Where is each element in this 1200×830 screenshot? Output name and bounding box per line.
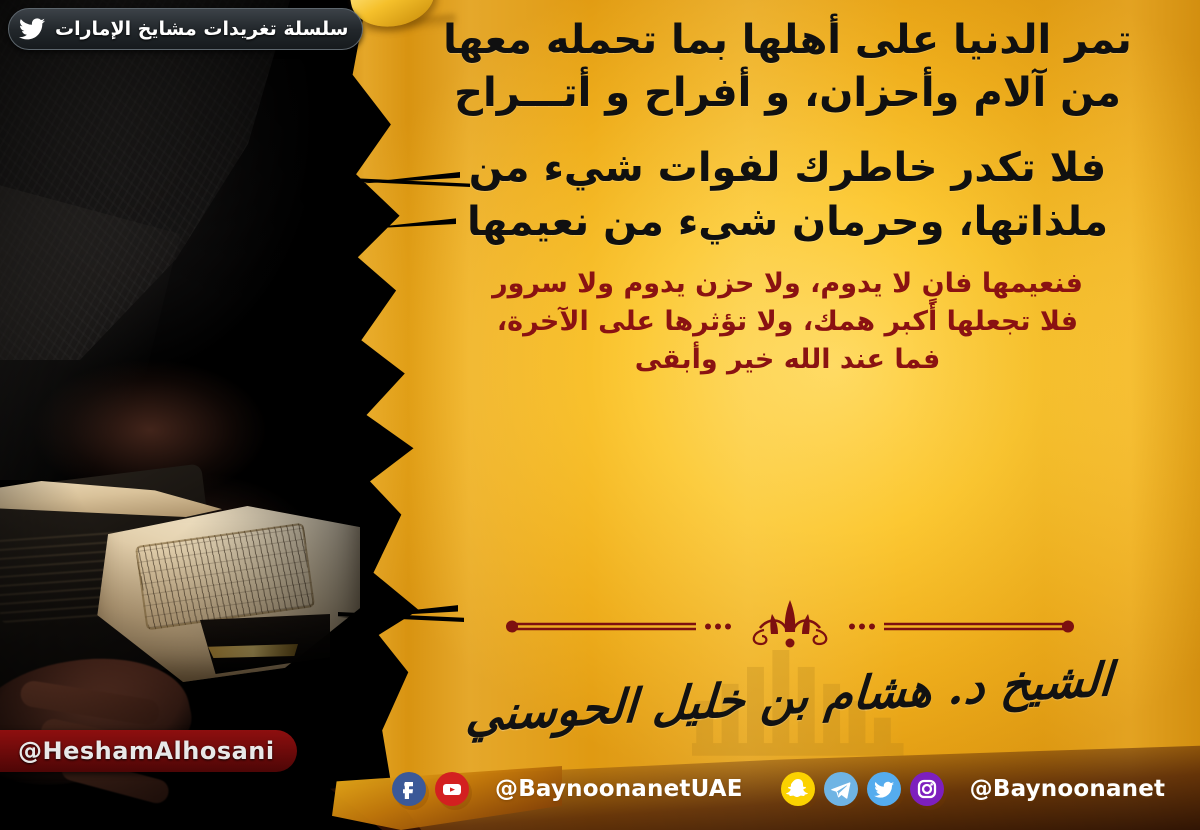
quote-card: تمر الدنيا على أهلها بما تحمله معها من آ… [0, 0, 1200, 830]
telegram-icon[interactable] [824, 772, 858, 806]
photo-vignette [0, 0, 360, 830]
author-handle-badge[interactable]: @HeshamAlhosani [0, 730, 297, 772]
paragraph-gap [385, 120, 1190, 142]
ornamental-divider-icon [420, 598, 1160, 650]
youtube-icon[interactable] [435, 772, 469, 806]
twitter-bird-icon [19, 18, 45, 40]
snapchat-icon[interactable] [781, 772, 815, 806]
quote-line-4: ملذاتها، وحرمان شيء من نعيمها [385, 196, 1190, 249]
series-badge-label: سلسلة تغريدات مشايخ الإمارات [55, 18, 348, 40]
quote-red-line-2: فلا تجعلها أكبر همك، ولا تؤثرها على الآخ… [385, 303, 1190, 341]
quote-text-block: تمر الدنيا على أهلها بما تحمله معها من آ… [385, 0, 1190, 600]
social-footer-bar: @BaynoonanetUAE @Baynoonanet [392, 772, 1200, 806]
facebook-icon[interactable] [392, 772, 426, 806]
quote-red-line-1: فنعيمها فانٍ لا يدوم، ولا حزن يدوم ولا س… [385, 265, 1190, 303]
footer-handle-uae[interactable]: @BaynoonanetUAE [491, 776, 747, 802]
series-badge[interactable]: سلسلة تغريدات مشايخ الإمارات [8, 8, 363, 50]
instagram-icon[interactable] [910, 772, 944, 806]
quote-line-3: فلا تكدر خاطرك لفوات شيء من [385, 142, 1190, 195]
author-handle-text: @HeshamAlhosani [18, 737, 275, 765]
quote-line-1: تمر الدنيا على أهلها بما تحمله معها [385, 14, 1190, 67]
background-photo-quran-reader [0, 0, 360, 830]
twitter-icon[interactable] [867, 772, 901, 806]
quote-line-2: من آلام وأحزان، و أفراح و أتـــراح [385, 67, 1190, 120]
calligraphic-signature: الشيخ د. هشام بن خليل الحوسني [430, 646, 1130, 756]
footer-handle-main[interactable]: @Baynoonanet [966, 776, 1170, 802]
quote-red-line-3: فما عند الله خير وأبقى [385, 341, 1190, 379]
quote-red-block: فنعيمها فانٍ لا يدوم، ولا حزن يدوم ولا س… [385, 265, 1190, 380]
